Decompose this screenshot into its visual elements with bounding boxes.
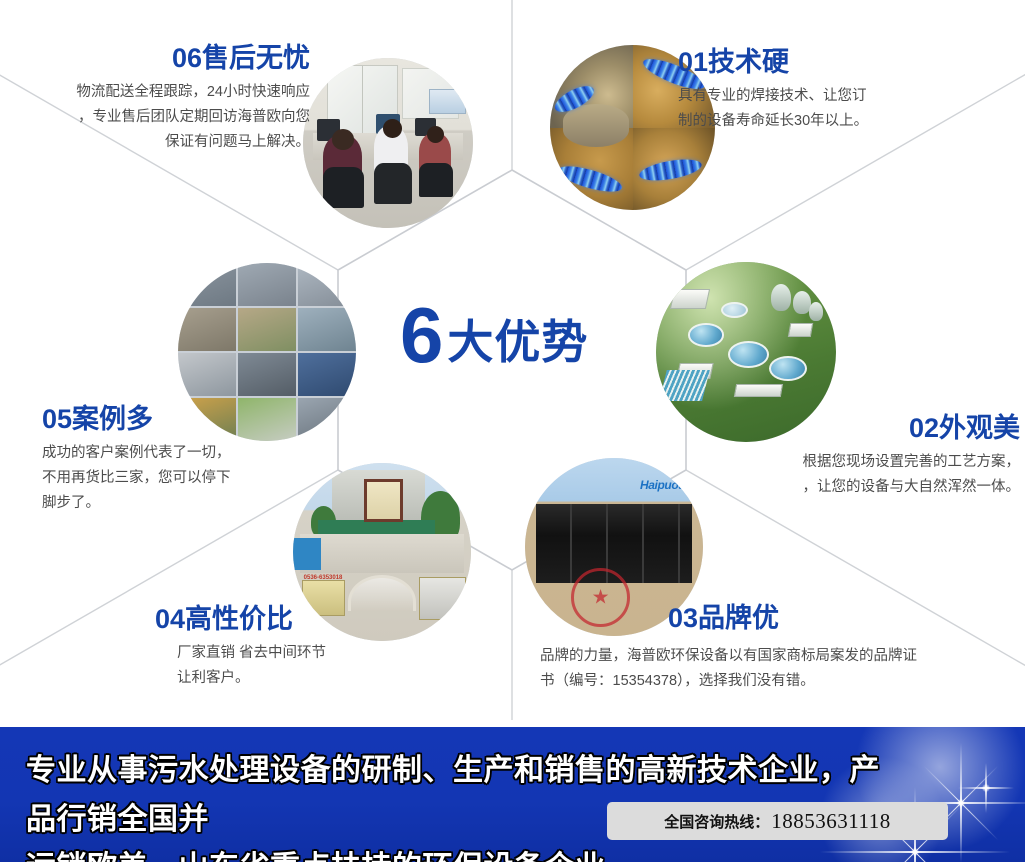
advantage-01: 01技术硬 具有专业的焊接技术、让您订 制的设备寿命延长30年以上。 xyxy=(678,48,1008,134)
office-photo xyxy=(303,58,473,228)
infographic-root: 6大优势 06售后无忧 物流配送全程跟踪，24小时快速响应 ，专业售后团队定期回… xyxy=(0,0,1025,862)
banner-line-2: 远销欧美，山东省重点扶持的环保设备企业。 xyxy=(26,844,906,862)
hotline-number: 18853631118 xyxy=(771,809,890,834)
center-label-text: 大优势 xyxy=(447,316,588,368)
advantage-04-title: 04高性价比 xyxy=(155,605,485,633)
hotline-box[interactable]: 全国咨询热线： 18853631118 xyxy=(607,802,948,840)
advantage-03-title: 03品牌优 xyxy=(668,604,1008,632)
hotline-label: 全国咨询热线： xyxy=(664,811,769,832)
advantage-04-desc: 厂家直销 省去中间环节 让利客户。 xyxy=(155,641,485,691)
advantage-03-desc: 品牌的力量，海普欧环保设备以有国家商标局案发的品牌证 书（编号：15354378… xyxy=(540,644,1020,694)
advantage-01-desc: 具有专业的焊接技术、让您订 制的设备寿命延长30年以上。 xyxy=(678,84,1008,134)
bottom-banner: 专业从事污水处理设备的研制、生产和销售的高新技术企业，产品行销全国并 远销欧美，… xyxy=(0,727,1025,862)
center-number: 6 xyxy=(400,291,441,379)
advantage-06-desc: 物流配送全程跟踪，24小时快速响应 ，专业售后团队定期回访海普欧向您 保证有问题… xyxy=(10,80,310,155)
advantage-03-desc-wrap: 品牌的力量，海普欧环保设备以有国家商标局案发的品牌证 书（编号：15354378… xyxy=(540,644,1020,694)
sparkle-icon-3 xyxy=(958,763,1014,813)
advantage-05-title: 05案例多 xyxy=(42,405,342,433)
advantage-03: 03品牌优 xyxy=(668,604,1008,632)
advantage-02-title: 02外观美 xyxy=(600,414,1020,442)
center-headline: 6大优势 xyxy=(400,296,588,374)
advantage-01-title: 01技术硬 xyxy=(678,48,1008,76)
advantage-04: 04高性价比 厂家直销 省去中间环节 让利客户。 xyxy=(155,605,485,691)
advantage-06: 06售后无忧 物流配送全程跟踪，24小时快速响应 ，专业售后团队定期回访海普欧向… xyxy=(10,44,310,155)
advantage-06-title: 06售后无忧 xyxy=(10,44,310,72)
haipuou-logo: Haipuou xyxy=(640,478,685,492)
trademark-stamp xyxy=(571,568,630,627)
